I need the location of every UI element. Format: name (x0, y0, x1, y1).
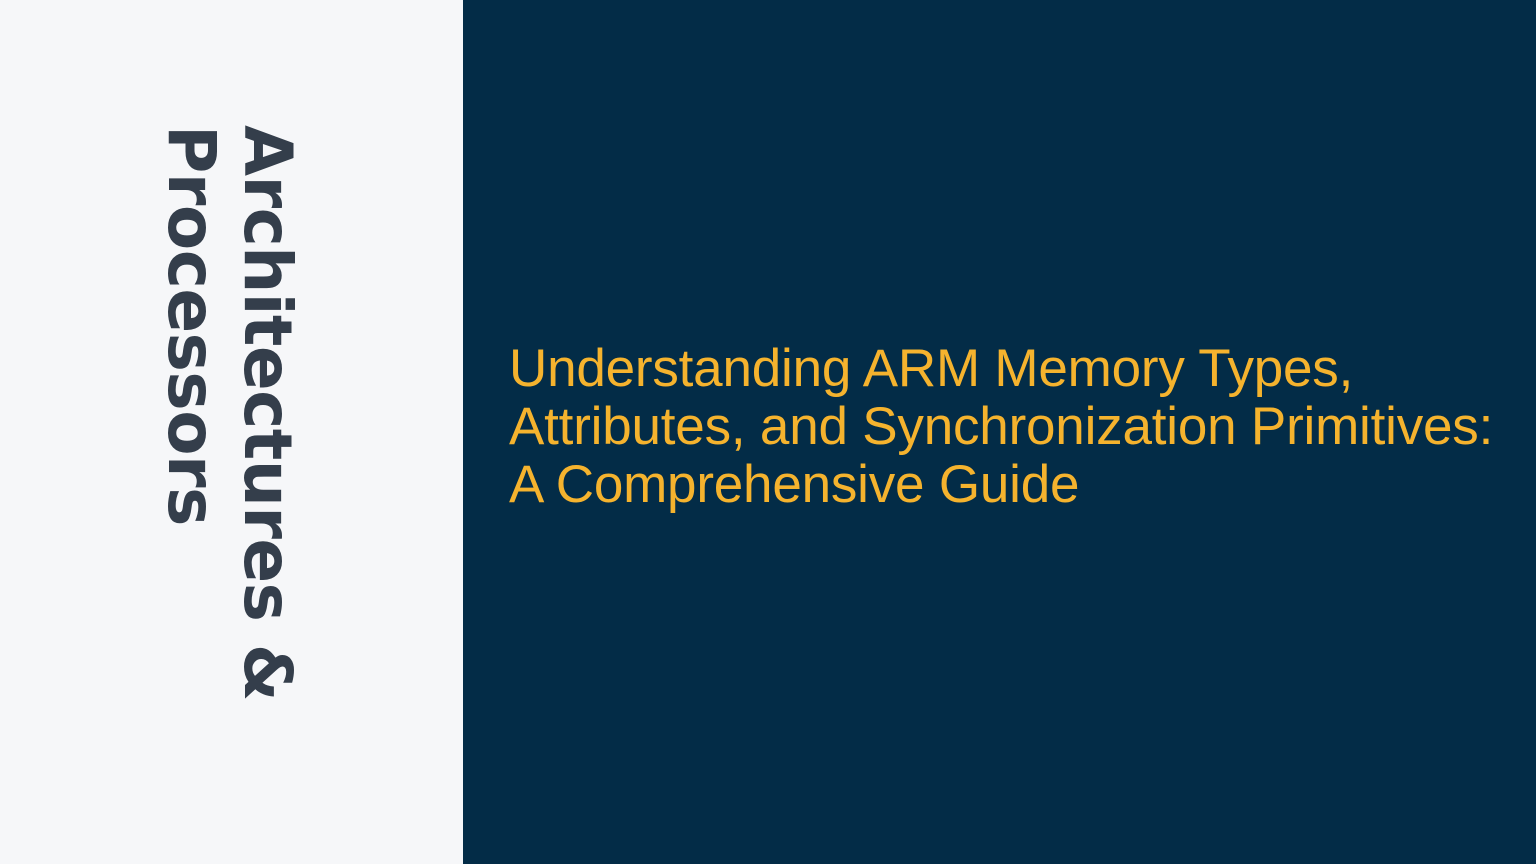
title-slide: Architectures & Processors Understanding… (0, 0, 1536, 864)
category-label-text: Architectures & Processors (153, 125, 305, 725)
rotated-category-label: Architectures & Processors (145, 125, 305, 725)
title-block: Understanding ARM Memory Types, Attribut… (509, 340, 1509, 514)
title-panel: Understanding ARM Memory Types, Attribut… (463, 0, 1536, 864)
page-title: Understanding ARM Memory Types, Attribut… (509, 340, 1509, 514)
vertical-label-container: Architectures & Processors (0, 0, 463, 864)
category-panel: Architectures & Processors (0, 0, 463, 864)
